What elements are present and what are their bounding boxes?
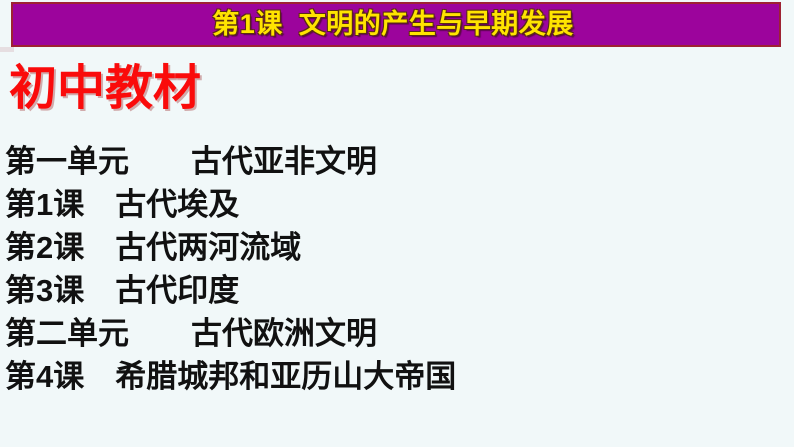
list-item: 第二单元 古代欧洲文明 bbox=[5, 312, 789, 355]
banner-edge-artifact bbox=[0, 47, 14, 52]
slide-title: 第1课 文明的产生与早期发展 bbox=[212, 11, 580, 38]
list-item: 第2课 古代两河流域 bbox=[5, 226, 789, 269]
section-heading: 初中教材 bbox=[9, 62, 201, 116]
contents-list: 第一单元 古代亚非文明 第1课 古代埃及 第2课 古代两河流域 第3课 古代印度… bbox=[5, 140, 789, 398]
presentation-slide: 第1课 文明的产生与早期发展 初中教材 第一单元 古代亚非文明 第1课 古代埃及… bbox=[0, 0, 794, 447]
list-item: 第3课 古代印度 bbox=[5, 269, 789, 312]
list-item: 第1课 古代埃及 bbox=[5, 183, 789, 226]
slide-title-banner: 第1课 文明的产生与早期发展 bbox=[11, 2, 781, 47]
list-item: 第4课 希腊城邦和亚历山大帝国 bbox=[5, 355, 789, 398]
list-item: 第一单元 古代亚非文明 bbox=[5, 140, 789, 183]
